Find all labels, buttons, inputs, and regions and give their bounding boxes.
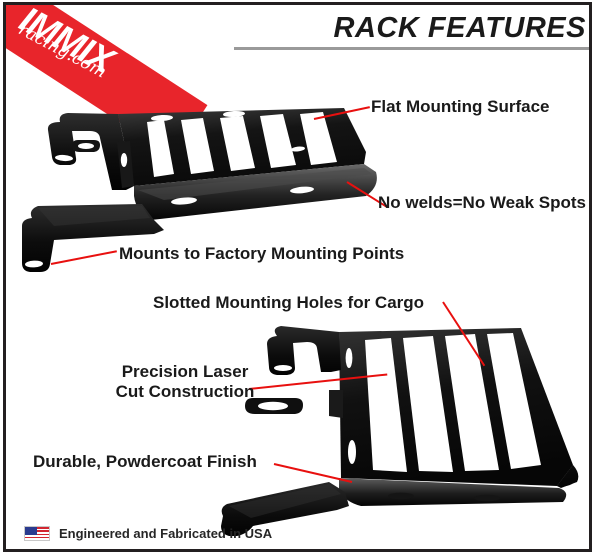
infographic-page: RACK FEATURES IMMIX ™ racing.com xyxy=(0,0,603,560)
bottom-rack-photo xyxy=(221,310,592,545)
footer-text: Engineered and Fabricated in USA xyxy=(59,526,272,541)
content-frame: RACK FEATURES IMMIX ™ racing.com xyxy=(3,2,592,552)
flag-canton xyxy=(25,527,37,535)
page-title-container: RACK FEATURES xyxy=(234,7,592,49)
callout-precision-laser-line2: Cut Construction xyxy=(116,382,255,401)
footer: Engineered and Fabricated in USA xyxy=(24,526,272,541)
callout-factory-mounting-points: Mounts to Factory Mounting Points xyxy=(119,244,404,264)
callout-slotted-holes: Slotted Mounting Holes for Cargo xyxy=(153,293,424,313)
title-divider xyxy=(234,47,592,50)
callout-precision-laser: Precision Laser Cut Construction xyxy=(110,362,260,402)
callout-powdercoat-finish: Durable, Powdercoat Finish xyxy=(33,452,257,472)
callout-precision-laser-line1: Precision Laser xyxy=(122,362,249,381)
logo-text-group: IMMIX ™ racing.com xyxy=(3,2,198,28)
callout-no-welds: No welds=No Weak Spots xyxy=(378,193,586,213)
page-title: RACK FEATURES xyxy=(334,12,592,45)
callout-flat-mounting-surface: Flat Mounting Surface xyxy=(371,97,550,117)
immix-racing-logo: IMMIX ™ racing.com xyxy=(3,2,214,55)
usa-flag-icon xyxy=(24,526,50,541)
